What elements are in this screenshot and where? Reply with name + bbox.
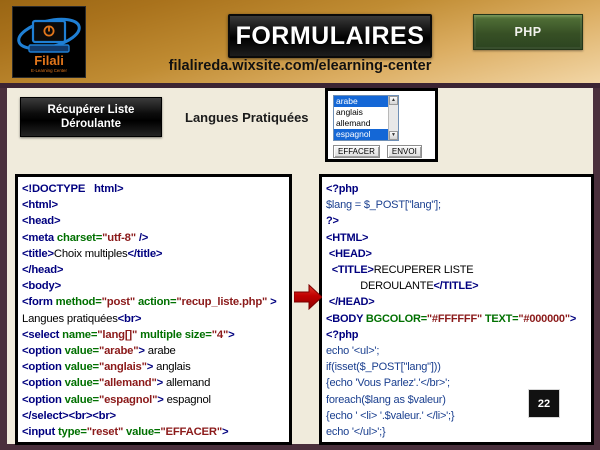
code-token-attr: type= [58, 442, 87, 445]
code-token-php: {echo ' <li> '.$valeur.' </li>';} [326, 410, 454, 422]
code-token-php: {echo 'Vous Parlez'.'</br>'; [326, 377, 450, 389]
code-line: ?> [326, 440, 591, 445]
page-title: FORMULAIRES [236, 22, 425, 51]
code-token-tag: <HEAD> [326, 248, 372, 260]
lang-option-espagnol[interactable]: espagnol [334, 129, 388, 140]
code-line: <input type="reset" value="EFFACER"> [22, 424, 289, 440]
code-token-php: $lang = $_POST["lang"]; [326, 199, 441, 211]
code-line: <input type="submit" value="ENVOI"> [22, 440, 289, 445]
code-line: <option value="anglais"> anglais [22, 359, 289, 375]
code-token-val: "4" [212, 329, 228, 341]
code-token-val: "EFFACER" [160, 426, 222, 438]
code-token-phptag: ?> [326, 215, 339, 227]
code-token-attr: value= [65, 394, 99, 406]
code-token-tag: <form [22, 296, 56, 308]
html-code-panel: <!DOCTYPE html><html><head><meta charset… [15, 174, 292, 445]
code-token-tag: <option [22, 377, 65, 389]
slide: Filali E-Learning Center FORMULAIRES fil… [0, 0, 600, 450]
code-line: echo '<ul>'; [326, 343, 591, 359]
code-token-attr: BGCOLOR= [366, 313, 427, 325]
code-line: <option value="espagnol"> espagnol [22, 392, 289, 408]
code-token-phptag: ?> [326, 442, 339, 445]
code-token-tag: </select><br><br> [22, 410, 116, 422]
code-token-val: "allemand" [99, 377, 157, 389]
code-token-val: "espagnol" [99, 394, 157, 406]
code-token-tag: <body> [22, 280, 61, 292]
php-badge-label: PHP [515, 25, 542, 39]
code-token-txt: Langues pratiquées [22, 313, 118, 325]
code-token-tag: <input [22, 442, 58, 445]
code-line: <html> [22, 197, 289, 213]
code-line: <select name="lang[]" multiple size="4"> [22, 327, 289, 343]
code-token-tag: <TITLE> [326, 264, 374, 276]
code-token-tag: <!DOCTYPE html> [22, 183, 123, 195]
code-token-tag: <title> [22, 248, 54, 260]
code-line: ?> [326, 213, 591, 229]
code-token-phptag: <?php [326, 329, 358, 341]
code-line: Langues pratiquées<br> [22, 311, 289, 327]
code-token-tag: <HTML> [326, 232, 368, 244]
code-token-attr: multiple size= [140, 329, 212, 341]
code-token-attr: action= [138, 296, 176, 308]
code-line: <!DOCTYPE html> [22, 181, 289, 197]
code-token-tag: <br> [118, 313, 142, 325]
code-token-tag: <BODY [326, 313, 366, 325]
code-token-tag: </HEAD> [326, 296, 375, 308]
code-token-attr: TEXT= [485, 313, 519, 325]
code-token-tag: /> [139, 232, 148, 244]
code-token-attr: name= [62, 329, 97, 341]
code-line: </HEAD> [326, 294, 591, 310]
code-token-val: "recup_liste.php" [176, 296, 270, 308]
code-line: <form method="post" action="recup_liste.… [22, 294, 289, 310]
form-preview: arabeanglaisallemandespagnol ▲ ▼ EFFACER… [325, 88, 438, 162]
page-title-banner: FORMULAIRES [228, 14, 432, 58]
code-token-txt: anglais [153, 361, 190, 373]
page-number: 22 [538, 398, 550, 410]
lang-option-anglais[interactable]: anglais [334, 107, 388, 118]
code-token-tag: </title> [128, 248, 163, 260]
code-token-tag: </head> [22, 264, 63, 276]
code-token-attr: charset= [57, 232, 102, 244]
scroll-up-icon[interactable]: ▲ [389, 96, 398, 105]
code-token-tag: > [570, 313, 576, 325]
code-line: <option value="arabe"> arabe [22, 343, 289, 359]
preview-button-row: EFFACER ENVOI [333, 145, 422, 158]
code-token-txt: espagnol [164, 394, 211, 406]
section-title: Langues Pratiquées [185, 110, 309, 125]
site-url: filalireda.wixsite.com/elearning-center [0, 58, 600, 74]
code-token-tag: <option [22, 361, 65, 373]
code-token-val: "ENVOI" [170, 442, 214, 445]
code-line: <HTML> [326, 230, 591, 246]
code-token-tag: <input [22, 426, 58, 438]
code-token-val: "lang[]" [97, 329, 140, 341]
slide-body: Récupérer Liste Déroulante Langues Prati… [0, 88, 600, 450]
code-line: echo '</ul>';} [326, 424, 591, 440]
code-token-tag: <select [22, 329, 62, 341]
code-token-txt: RECUPERER LISTE [374, 264, 474, 276]
code-line: <HEAD> [326, 246, 591, 262]
recup-label-text: Récupérer Liste Déroulante [48, 103, 135, 131]
code-line: <body> [22, 278, 289, 294]
lang-option-allemand[interactable]: allemand [334, 118, 388, 129]
lang-select-options[interactable]: arabeanglaisallemandespagnol [334, 96, 388, 140]
code-line: <?php [326, 181, 591, 197]
recuperer-liste-deroulante-label: Récupérer Liste Déroulante [20, 97, 162, 137]
scroll-down-icon[interactable]: ▼ [389, 131, 398, 140]
page-number-badge: 22 [528, 389, 560, 418]
code-token-tag: <meta [22, 232, 57, 244]
code-line: </head> [22, 262, 289, 278]
code-token-tag: > [270, 296, 276, 308]
code-token-phptag: <?php [326, 183, 358, 195]
code-line: <option value="allemand"> allemand [22, 375, 289, 391]
code-token-attr: value= [126, 426, 160, 438]
code-token-val: "submit" [87, 442, 136, 445]
code-token-php: if(isset($_POST["lang"])) [326, 361, 441, 373]
php-badge: PHP [473, 14, 583, 50]
code-token-tag: > [215, 442, 221, 445]
code-token-val: "#000000" [518, 313, 569, 325]
code-token-php: foreach($lang as $valeur) [326, 394, 446, 406]
code-token-txt: Choix multiples [54, 248, 128, 260]
envoi-button[interactable]: ENVOI [387, 145, 422, 158]
code-token-tag: </TITLE> [433, 280, 478, 292]
code-line: $lang = $_POST["lang"]; [326, 197, 591, 213]
effacer-button[interactable]: EFFACER [333, 145, 380, 158]
code-token-attr: value= [136, 442, 170, 445]
code-token-tag: <option [22, 394, 65, 406]
code-token-tag: <html> [22, 199, 58, 211]
code-line: </select><br><br> [22, 408, 289, 424]
code-token-attr: value= [65, 361, 99, 373]
code-token-val: "reset" [87, 426, 126, 438]
lang-option-arabe[interactable]: arabe [334, 96, 388, 107]
code-line: <meta charset="utf-8" /> [22, 230, 289, 246]
code-token-val: "arabe" [99, 345, 138, 357]
code-token-val: "#FFFFFF" [427, 313, 485, 325]
code-token-tag: > [228, 329, 234, 341]
code-token-val: "anglais" [99, 361, 147, 373]
code-line: DEROULANTE</TITLE> [326, 278, 591, 294]
code-token-tag: <head> [22, 215, 60, 227]
code-token-txt: allemand [163, 377, 210, 389]
code-token-val: "utf-8" [102, 232, 139, 244]
code-token-attr: type= [58, 426, 87, 438]
slide-header: Filali E-Learning Center FORMULAIRES fil… [0, 0, 600, 83]
code-token-txt: arabe [145, 345, 176, 357]
code-token-tag: > [222, 426, 228, 438]
select-scrollbar[interactable]: ▲ ▼ [388, 96, 398, 140]
code-line: <BODY BGCOLOR="#FFFFFF" TEXT="#000000"> [326, 311, 591, 327]
code-token-attr: value= [65, 345, 99, 357]
code-line: <title>Choix multiples</title> [22, 246, 289, 262]
html-code-lines: <!DOCTYPE html><html><head><meta charset… [18, 177, 289, 445]
code-token-val: "post" [102, 296, 138, 308]
code-token-php: echo '<ul>'; [326, 345, 379, 357]
code-line: <?php [326, 327, 591, 343]
code-line: if(isset($_POST["lang"])) [326, 359, 591, 375]
lang-select[interactable]: arabeanglaisallemandespagnol ▲ ▼ [333, 95, 399, 141]
code-token-attr: method= [56, 296, 102, 308]
code-token-php: echo '</ul>';} [326, 426, 386, 438]
code-token-txt: DEROULANTE [326, 280, 433, 292]
code-line: <TITLE>RECUPERER LISTE [326, 262, 591, 278]
code-token-tag: <option [22, 345, 65, 357]
code-token-attr: value= [65, 377, 99, 389]
red-arrow-icon [294, 284, 322, 310]
code-line: <head> [22, 213, 289, 229]
